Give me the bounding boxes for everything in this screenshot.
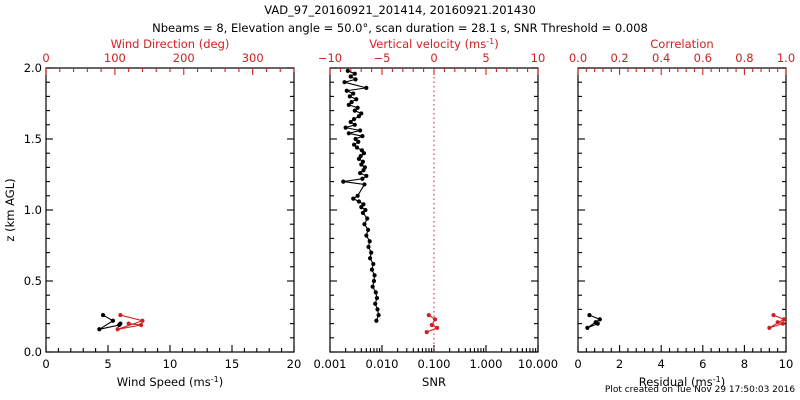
- panel-2-data-point: [356, 140, 360, 144]
- x-tick-label: 0: [42, 357, 49, 371]
- panel-2-data-point: [366, 228, 370, 232]
- panel-3-data-point: [585, 326, 589, 330]
- panel-2-data-point: [435, 326, 439, 330]
- x-tick-label: 15: [225, 357, 240, 371]
- panel-2-data-point: [358, 171, 362, 175]
- panel-2-data-point: [369, 251, 373, 255]
- panel-2-data-point: [366, 245, 370, 249]
- x-tick-label: 0.100: [418, 357, 451, 371]
- panel-3-bottom-axis-label: Residual (ms-1): [639, 375, 725, 389]
- plot-root: VAD_97_20160921_201414, 20160921.201430N…: [0, 0, 800, 400]
- x-tick-label: 1.000: [470, 357, 503, 371]
- x-tick-label: 2: [616, 357, 623, 371]
- panel-2-series-line-snr: [343, 71, 378, 321]
- panel-3-top-axis-label: Correlation: [650, 37, 713, 51]
- y-axis-label: z (km AGL): [3, 178, 17, 241]
- panel-1-data-point: [140, 319, 144, 323]
- panel-2-data-point: [364, 174, 368, 178]
- panel-1-frame: [46, 68, 294, 352]
- panel-1-data-point: [139, 323, 143, 327]
- figure-title-line1: VAD_97_20160921_201414, 20160921.201430: [264, 3, 536, 17]
- x-tick-label: 6: [699, 357, 706, 371]
- panel-1-data-point: [118, 322, 122, 326]
- panel-2-data-point: [348, 94, 352, 98]
- y-tick-label: 2.0: [24, 61, 42, 75]
- panel-2-data-point: [374, 290, 378, 294]
- panel-2-data-point: [346, 69, 350, 73]
- x-tick-label-top: −10: [318, 51, 342, 65]
- panel-2-data-point: [357, 157, 361, 161]
- x-tick-label-top: 0.0: [569, 51, 587, 65]
- panel-2-frame: [330, 68, 538, 352]
- panel-2-data-point: [361, 168, 365, 172]
- panel-2-data-point: [349, 74, 353, 78]
- panel-2-bottom-axis-label: SNR: [422, 375, 446, 389]
- panel-2-data-point: [355, 145, 359, 149]
- panel-2-data-point: [362, 182, 366, 186]
- figure-subtitle-line2: Nbeams = 8, Elevation angle = 50.0°, sca…: [152, 21, 648, 35]
- panel-2-top-axis-label: Vertical velocity (ms-1): [369, 37, 498, 51]
- x-tick-label: 8: [741, 357, 748, 371]
- panel-2-data-point: [371, 262, 375, 266]
- panel-1-data-point: [118, 313, 122, 317]
- y-tick-label: 0.0: [24, 345, 42, 359]
- x-tick-label-top: 100: [104, 51, 126, 65]
- x-tick-label: 10: [163, 357, 178, 371]
- x-tick-label-top: 0.4: [652, 51, 670, 65]
- x-tick-label: 4: [658, 357, 665, 371]
- panel-2-data-point: [376, 313, 380, 317]
- panel-2-data-point: [353, 77, 357, 81]
- panel-2-data-point: [368, 256, 372, 260]
- panel-2-data-point: [371, 285, 375, 289]
- panel-2-data-point: [361, 211, 365, 215]
- panel-2-data-point: [356, 194, 360, 198]
- panel-2-data-point: [373, 302, 377, 306]
- panel-2-data-point: [374, 319, 378, 323]
- panel-2-data-point: [342, 80, 346, 84]
- panel-2-data-point: [362, 151, 366, 155]
- panel-2-data-point: [344, 126, 348, 130]
- x-tick-label-top: 0.2: [610, 51, 628, 65]
- panel-2-data-point: [425, 330, 429, 334]
- panel-2-data-point: [375, 307, 379, 311]
- x-tick-label-top: 0: [42, 51, 49, 65]
- panel-3-data-point: [781, 322, 785, 326]
- panel-2-data-point: [347, 131, 351, 135]
- panel-3-data-point: [587, 313, 591, 317]
- panel-2-data-point: [427, 313, 431, 317]
- panel-2-data-point: [364, 86, 368, 90]
- x-tick-label: 5: [104, 357, 111, 371]
- x-tick-label-top: 0: [430, 51, 437, 65]
- panel-1-data-point: [111, 319, 115, 323]
- panel-2-data-point: [372, 273, 376, 277]
- x-tick-label: 10.000: [518, 357, 558, 371]
- panel-2-data-point: [362, 222, 366, 226]
- panel-1-series-line-wind-speed: [99, 315, 120, 329]
- panel-2-data-point: [360, 177, 364, 181]
- panel-2-data-point: [341, 180, 345, 184]
- panel-2-data-point: [351, 197, 355, 201]
- panel-2-data-point: [353, 123, 357, 127]
- vad-figure: VAD_97_20160921_201414, 20160921.201430N…: [0, 0, 800, 400]
- x-tick-label-top: −5: [374, 51, 391, 65]
- x-tick-label: 0.010: [366, 357, 399, 371]
- panel-2-data-point: [359, 205, 363, 209]
- panel-2-data-point: [345, 89, 349, 93]
- panel-2-data-point: [368, 239, 372, 243]
- y-tick-label: 1.5: [24, 132, 42, 146]
- panel-2-data-point: [364, 233, 368, 237]
- panel-2-data-point: [370, 268, 374, 272]
- x-tick-label-top: 0.8: [735, 51, 753, 65]
- panel-2-data-point: [357, 199, 361, 203]
- panel-3-frame: [578, 68, 786, 352]
- panel-2-data-point: [430, 323, 434, 327]
- panel-1-data-point: [116, 327, 120, 331]
- panel-2-data-point: [365, 216, 369, 220]
- panel-2-data-point: [358, 128, 362, 132]
- panel-2-data-point: [360, 134, 364, 138]
- y-tick-label: 0.5: [24, 274, 42, 288]
- panel-3-data-point: [782, 317, 786, 321]
- panel-2-data-point: [357, 114, 361, 118]
- x-tick-label-top: 200: [173, 51, 195, 65]
- panel-2-data-point: [372, 279, 376, 283]
- x-tick-label-top: 0.6: [694, 51, 712, 65]
- panel-2-data-point: [433, 317, 437, 321]
- x-tick-label-top: 300: [242, 51, 264, 65]
- panel-2-data-point: [349, 120, 353, 124]
- x-tick-label-top: 1.0: [777, 51, 795, 65]
- x-tick-label-top: 10: [531, 51, 546, 65]
- y-tick-label: 1.0: [24, 203, 42, 217]
- x-tick-label: 0: [574, 357, 581, 371]
- panel-3-data-point: [776, 320, 780, 324]
- x-tick-label-top: 5: [482, 51, 489, 65]
- panel-1-data-point: [97, 327, 101, 331]
- x-tick-label: 10: [779, 357, 794, 371]
- panel-2-data-point: [351, 91, 355, 95]
- panel-1-top-axis-label: Wind Direction (deg): [111, 37, 230, 51]
- x-tick-label: 20: [287, 357, 302, 371]
- panel-1-bottom-axis-label: Wind Speed (ms-1): [117, 375, 223, 389]
- x-tick-label: 0.001: [314, 357, 347, 371]
- panel-3-data-point: [771, 313, 775, 317]
- panel-1-data-point: [127, 322, 131, 326]
- panel-1-data-point: [101, 313, 105, 317]
- panel-2-data-point: [375, 296, 379, 300]
- panel-2-data-point: [353, 109, 357, 113]
- panel-2-data-point: [354, 97, 358, 101]
- panel-2-data-point: [359, 162, 363, 166]
- panel-2-data-point: [352, 117, 356, 121]
- panel-3-data-point: [598, 317, 602, 321]
- panel-2-data-point: [353, 72, 357, 76]
- panel-3-data-point: [594, 320, 598, 324]
- panel-3-data-point: [767, 326, 771, 330]
- panel-2-data-point: [347, 103, 351, 107]
